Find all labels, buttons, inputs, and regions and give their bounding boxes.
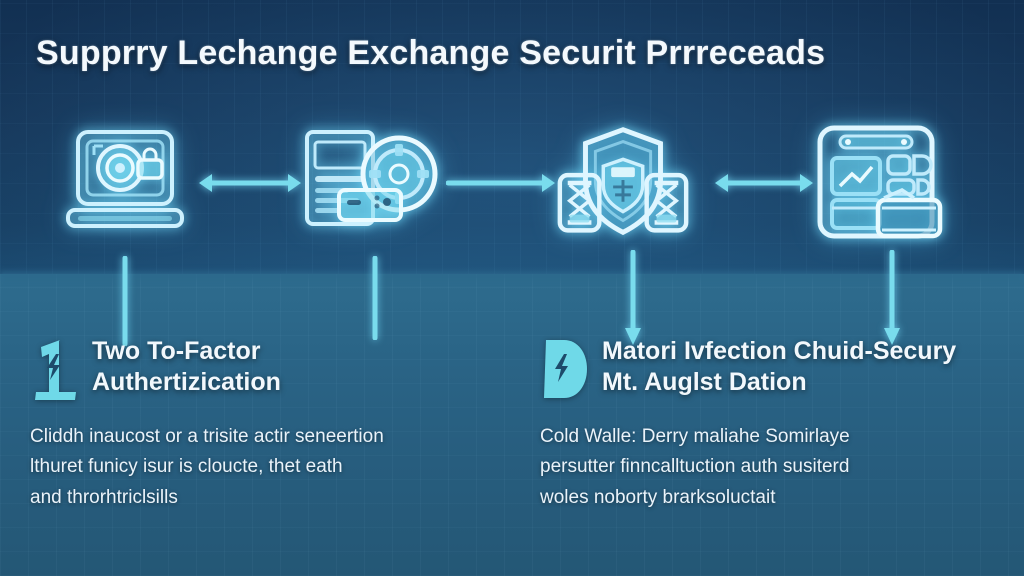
section-body-right: Cold Walle: Derry maliahe Somirlaye pers… <box>540 422 996 513</box>
connector-line-1 <box>118 256 132 346</box>
body-line-3: woles noborty brarksoluctait <box>540 483 996 513</box>
section-heading-text-right: Matori Ivfection Chuid-Secury Mt. Auglst… <box>602 336 956 398</box>
arrow-right-2 <box>446 170 558 196</box>
section-heading-text-left: Two To-Factor Authertizication <box>92 336 281 398</box>
body-line-2: lthuret funicy isur is cloucte, thet eat… <box>30 452 486 482</box>
body-line-3: and throrhtriclsills <box>30 483 486 513</box>
section-block-left: Two To-Factor Authertizication Cliddh in… <box>30 336 486 513</box>
badge-one-bolt-icon <box>30 338 78 400</box>
heading-line-1: Two To-Factor <box>92 337 261 365</box>
page-title: Supprry Lechange Exchange Securit Prrrec… <box>36 34 825 73</box>
flow-step-4[interactable] <box>805 108 955 258</box>
connector-arrow-3 <box>623 250 637 348</box>
arrow-bidirectional-1 <box>196 170 304 196</box>
heading-line-2: Mt. Auglst Dation <box>602 367 956 398</box>
section-heading-right: Matori Ivfection Chuid-Secury Mt. Auglst… <box>540 336 996 400</box>
connector-arrow-4 <box>882 250 896 348</box>
body-line-1: Cold Walle: Derry maliahe Somirlaye <box>540 422 996 452</box>
body-line-1: Cliddh inaucost or a trisite actir senee… <box>30 422 486 452</box>
band-seam <box>0 268 1024 282</box>
flow-step-1[interactable] <box>50 108 200 258</box>
badge-d-bolt-icon <box>540 338 588 400</box>
document-gear-card-icon <box>299 124 441 242</box>
section-block-right: Matori Ivfection Chuid-Secury Mt. Auglst… <box>540 336 996 513</box>
infographic-canvas: Supprry Lechange Exchange Securit Prrrec… <box>0 0 1024 576</box>
flow-step-2[interactable] <box>295 108 445 258</box>
connector-line-2 <box>368 256 382 340</box>
flow-step-3[interactable] <box>548 108 698 258</box>
heading-line-2: Authertizication <box>92 367 281 398</box>
laptop-secure-lock-icon <box>60 124 190 242</box>
body-line-2: persutter finncalltuction auth susiterd <box>540 452 996 482</box>
shield-hourglass-icon <box>548 123 698 243</box>
section-heading-left: Two To-Factor Authertizication <box>30 336 486 400</box>
heading-line-1: Matori Ivfection Chuid-Secury <box>602 337 956 365</box>
section-body-left: Cliddh inaucost or a trisite actir senee… <box>30 422 486 513</box>
arrow-bidirectional-3 <box>712 170 816 196</box>
dashboard-analytics-icon <box>810 122 950 244</box>
